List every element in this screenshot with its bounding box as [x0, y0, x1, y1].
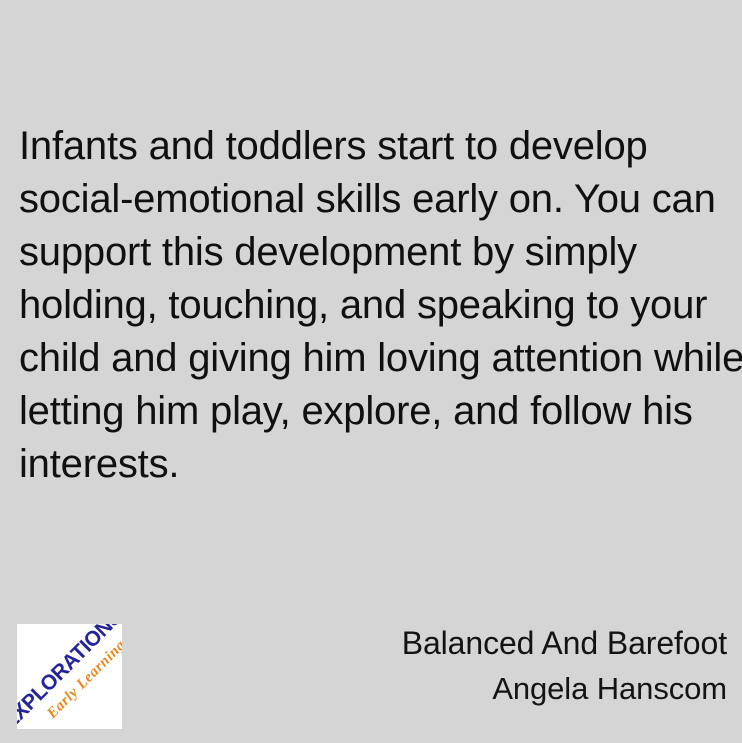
quote-slide: Infants and toddlers start to develop so… [0, 0, 742, 743]
quote-line: letting him play, explore, and follow hi… [19, 385, 725, 438]
book-title: Balanced And Barefoot [127, 620, 727, 666]
quote-line: social-emotional skills early on. You ca… [19, 173, 725, 226]
quote-line: holding, touching, and speaking to your [19, 279, 725, 332]
quote-line: Infants and toddlers start to develop [19, 120, 725, 173]
quote-line: child and giving him loving attention wh… [19, 332, 725, 385]
logo-wordmark-text: EXPLORATIONS [17, 624, 122, 729]
credit-block: Balanced And Barefoot Angela Hanscom [127, 620, 727, 712]
explorations-early-learning-logo: EXPLORATIONS Early Learning [17, 624, 122, 729]
quote-line: interests. [19, 438, 725, 491]
author-name: Angela Hanscom [127, 666, 727, 712]
quote-text-block: Infants and toddlers start to develop so… [19, 120, 725, 491]
quote-line: support this development by simply [19, 226, 725, 279]
